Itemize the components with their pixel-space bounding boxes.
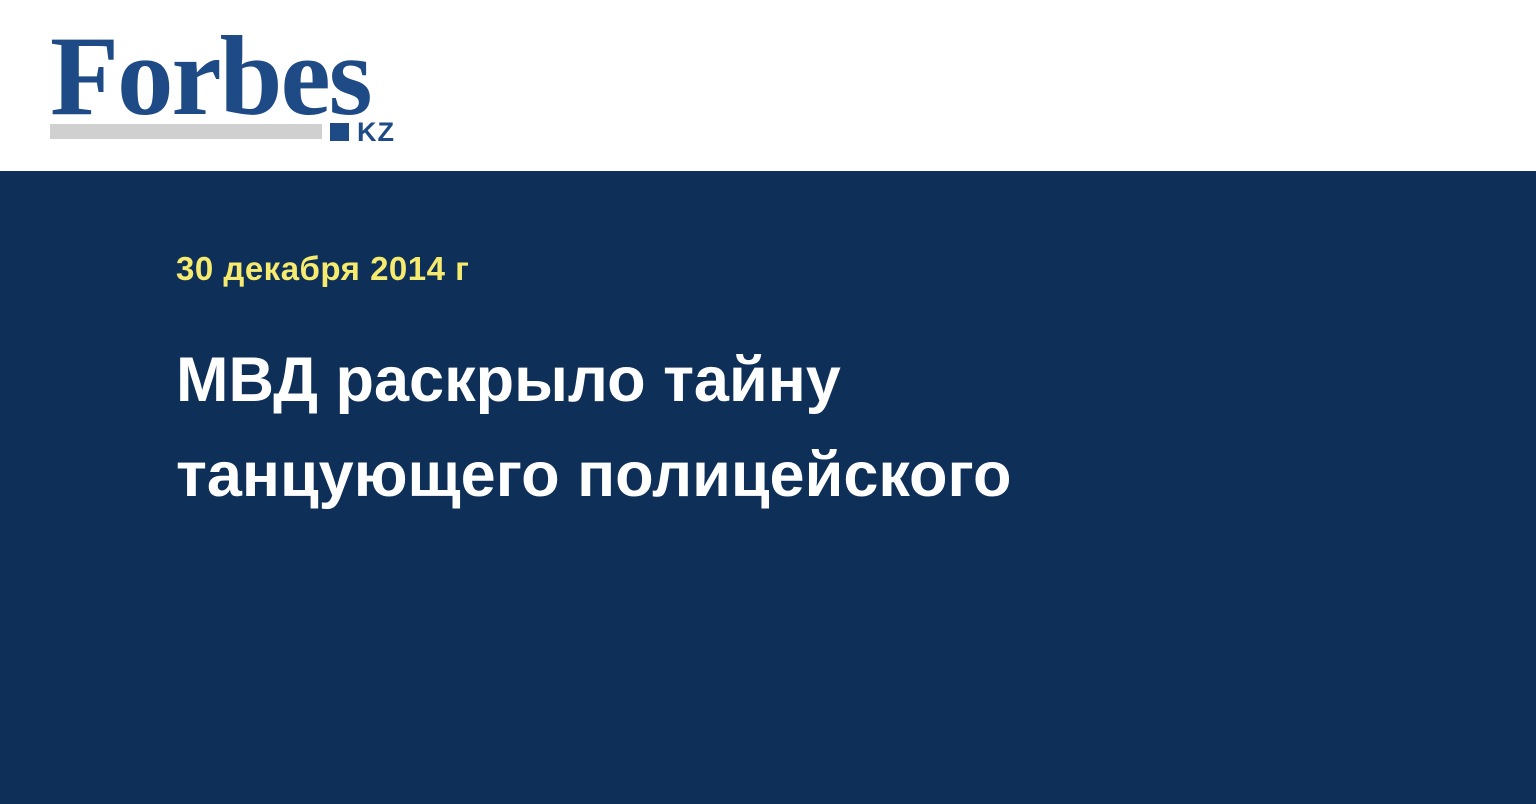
article-headline: МВД раскрыло тайну танцующего полицейско…: [176, 333, 1176, 523]
logo-kz-suffix: KZ: [357, 119, 395, 146]
article-date: 30 декабря 2014 г: [176, 249, 1456, 289]
article-hero-banner: 30 декабря 2014 г МВД раскрыло тайну тан…: [0, 171, 1536, 804]
logo-square-icon: [330, 123, 349, 141]
article-hero-page: Forbes KZ 30 декабря 2014 г МВД раскрыло…: [0, 0, 1536, 804]
forbes-kz-logo[interactable]: Forbes KZ: [50, 20, 410, 145]
site-header: Forbes KZ: [0, 0, 1536, 171]
article-hero-content: 30 декабря 2014 г МВД раскрыло тайну тан…: [176, 171, 1456, 565]
logo-underline-rule: [50, 124, 322, 139]
forbes-wordmark: Forbes: [50, 20, 371, 133]
